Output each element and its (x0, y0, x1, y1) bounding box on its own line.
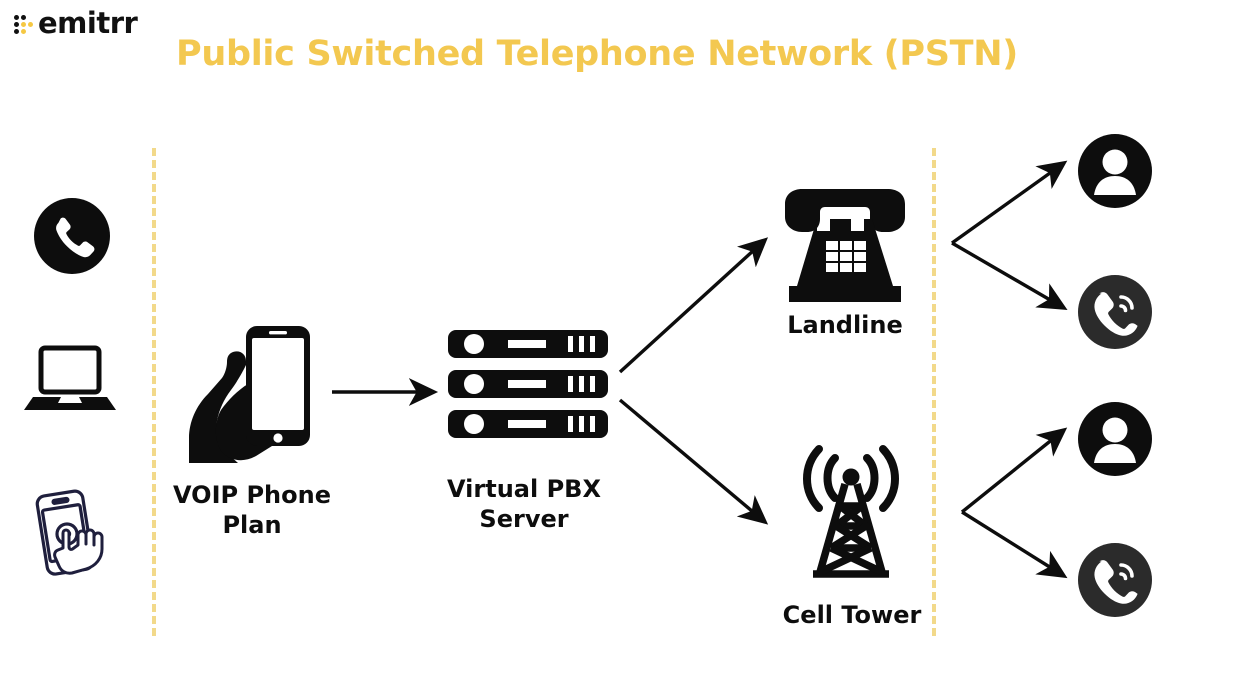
landline-label: Landline (715, 310, 975, 340)
phone-handset-circle-icon (33, 197, 111, 275)
voip-phone-plan-label-line1: VOIP Phone (122, 480, 382, 510)
ringing-phone-circle-icon (1077, 274, 1153, 350)
user-avatar-circle-icon (1077, 401, 1153, 477)
virtual-pbx-server-label: Virtual PBX Server (394, 474, 654, 534)
virtual-pbx-server-label-line1: Virtual PBX (394, 474, 654, 504)
arrow-pbx-to-landline (620, 240, 765, 372)
diagram-canvas: emitrr Public Switched Telephone Network… (0, 0, 1240, 698)
emitrr-logo[interactable]: emitrr (14, 6, 137, 40)
page-title: Public Switched Telephone Network (PSTN) (176, 34, 1018, 74)
arrow-landline-to-user (952, 163, 1064, 243)
voip-phone-plan-label: VOIP Phone Plan (122, 480, 382, 540)
arrow-landline-to-phone (952, 243, 1064, 308)
brand-name: emitrr (38, 9, 137, 38)
emitrr-dot-grid-logo-icon (14, 15, 33, 34)
hand-holding-smartphone-icon (186, 318, 319, 465)
virtual-pbx-server-label-line2: Server (394, 504, 654, 534)
smartphone-touch-icon (28, 485, 116, 579)
desk-telephone-icon (771, 188, 919, 304)
voip-phone-plan-label-line2: Plan (122, 510, 382, 540)
cell-tower-label: Cell Tower (722, 600, 982, 630)
user-avatar-circle-icon (1077, 133, 1153, 209)
right-dashed-divider (932, 148, 936, 636)
laptop-icon (23, 345, 117, 413)
arrow-celltower-to-phone (962, 512, 1064, 576)
cell-tower-label-line1: Cell Tower (722, 600, 982, 630)
left-dashed-divider (152, 148, 156, 636)
ringing-phone-circle-icon (1077, 542, 1153, 618)
server-rack-icon (448, 330, 608, 438)
arrow-celltower-to-user (962, 430, 1064, 512)
cell-tower-icon (795, 444, 907, 586)
landline-label-line1: Landline (715, 310, 975, 340)
